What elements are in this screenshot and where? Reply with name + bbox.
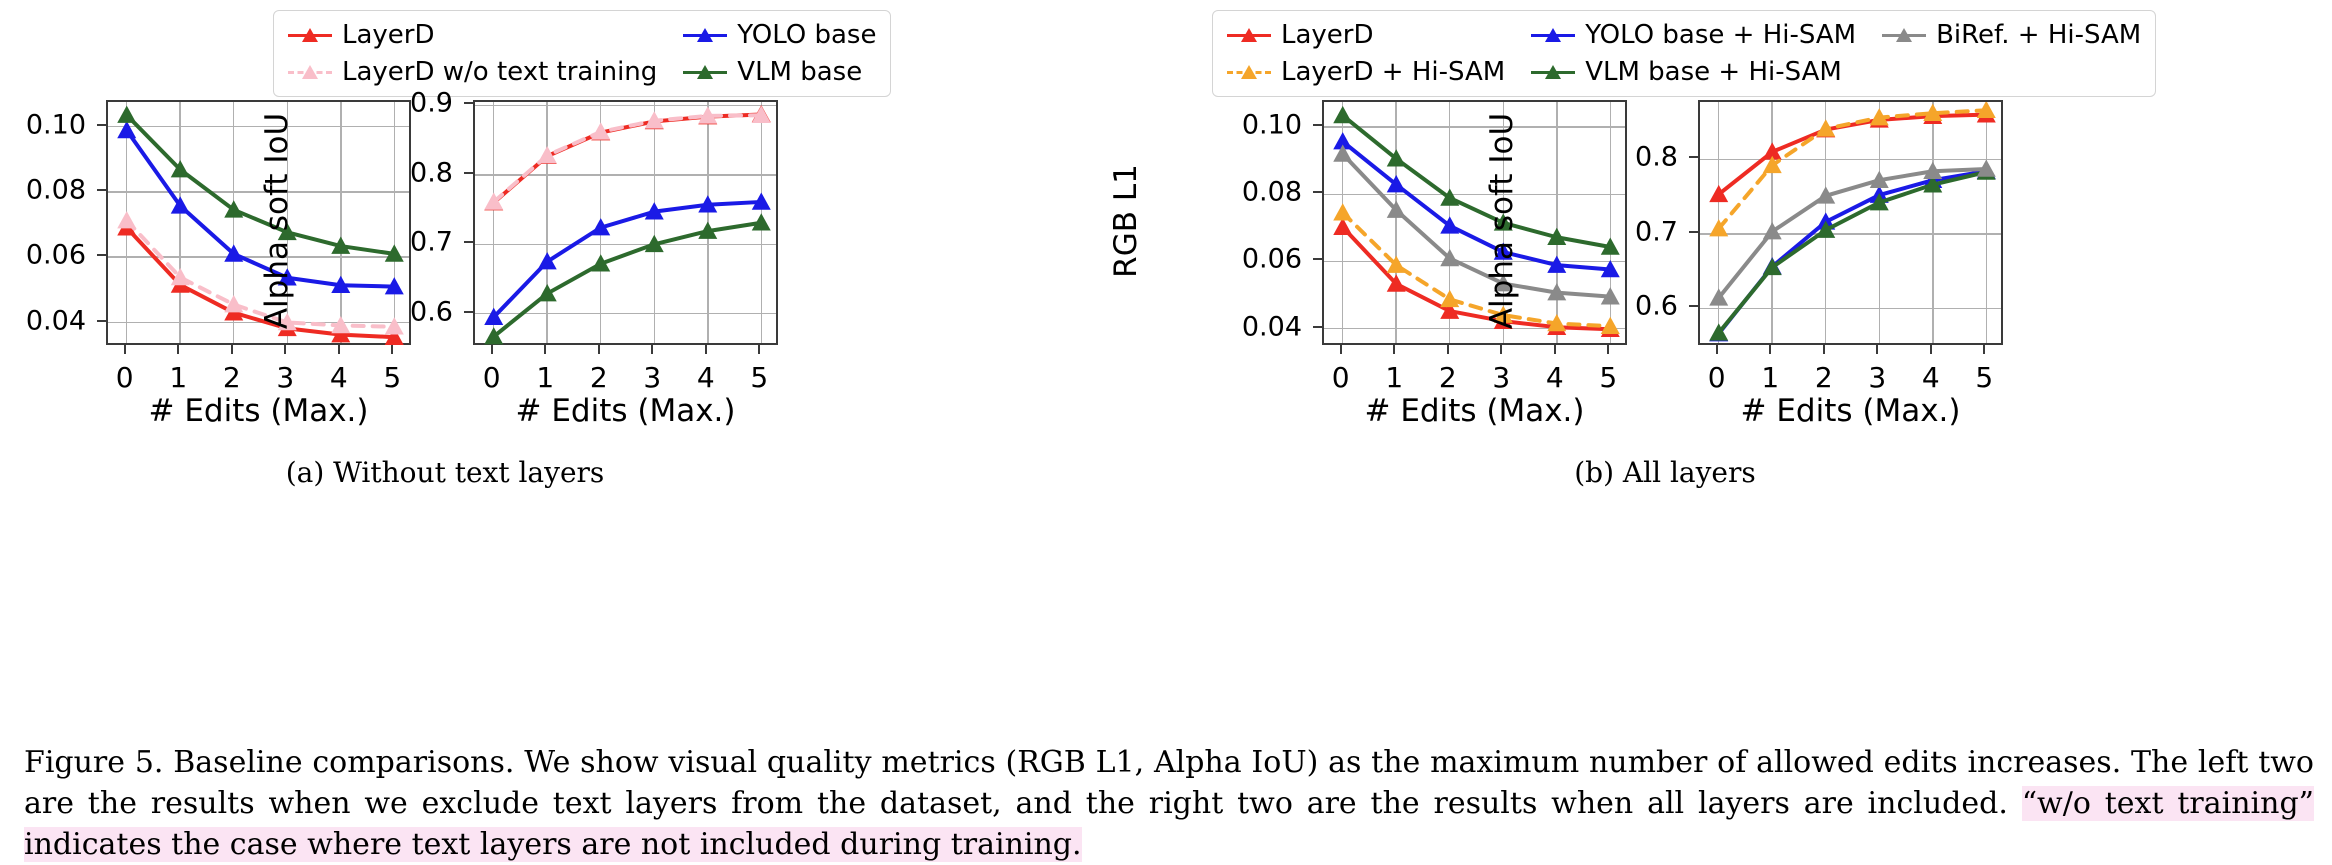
x-axis-label: # Edits (Max.): [1322, 393, 1627, 429]
x-tick-label: 2: [1815, 361, 1833, 394]
x-tick-label: 5: [1975, 361, 1993, 394]
series-line-vlm-base-hi-sam: [1719, 172, 1987, 333]
y-tick-label: 0.06: [1172, 244, 1302, 275]
plot-area-a-alpha-iou: [473, 100, 778, 345]
series-line-yolo-base-hi-sam: [1719, 171, 1987, 333]
legend-item-layerd: LayerD: [1227, 20, 1505, 50]
x-tick-mark: [1447, 345, 1449, 354]
x-tick-mark: [284, 345, 286, 354]
series-line-vlm-base: [494, 223, 762, 337]
x-tick-label: 5: [383, 361, 401, 394]
x-tick-label: 3: [276, 361, 294, 394]
series-layer: [1700, 102, 2005, 347]
legend-marker-triangle-up-icon: [1531, 61, 1575, 83]
legend-item-layerd-hi-sam: LayerD + Hi-SAM: [1227, 57, 1505, 87]
x-axis-label: # Edits (Max.): [106, 393, 411, 429]
data-point-marker-triangle-up-icon: [538, 252, 557, 269]
figure-5-container: LayerDYOLO baseLayerD w/o text trainingV…: [0, 0, 2332, 860]
legend-item-vlm-base-hi-sam: VLM base + Hi-SAM: [1531, 57, 1856, 87]
x-tick-label: 0: [1332, 361, 1350, 394]
x-tick-mark: [491, 345, 493, 354]
y-tick-mark: [97, 124, 106, 126]
y-tick-mark: [97, 189, 106, 191]
data-point-marker-triangle-up-icon: [538, 284, 557, 301]
y-tick-mark: [1313, 326, 1322, 328]
legend-item-label: LayerD: [1281, 20, 1374, 50]
x-tick-label: 2: [223, 361, 241, 394]
series-line-yolo-base: [494, 202, 762, 317]
legend-left: LayerDYOLO baseLayerD w/o text trainingV…: [273, 10, 891, 97]
x-tick-label: 3: [1492, 361, 1510, 394]
y-tick-label: 0.7: [323, 227, 453, 258]
legend-item-layerd-w-o-text-training: LayerD w/o text training: [288, 57, 657, 87]
legend-marker-triangle-up-icon: [1227, 61, 1271, 83]
x-tick-label: 4: [330, 361, 348, 394]
y-tick-label: 0.6: [1548, 291, 1678, 322]
data-point-marker-triangle-up-icon: [1333, 203, 1352, 220]
x-tick-mark: [1823, 345, 1825, 354]
data-point-marker-triangle-up-icon: [1440, 290, 1459, 307]
legend-marker-triangle-up-icon: [1227, 24, 1271, 46]
x-tick-label: 1: [1385, 361, 1403, 394]
legend-item-label: LayerD w/o text training: [342, 57, 657, 87]
legend-item-yolo-base-hi-sam: YOLO base + Hi-SAM: [1531, 20, 1856, 50]
legend-item-label: YOLO base: [737, 20, 876, 50]
y-tick-mark: [1313, 191, 1322, 193]
y-tick-mark: [1689, 156, 1698, 158]
x-tick-label: 1: [1761, 361, 1779, 394]
y-tick-mark: [97, 254, 106, 256]
series-line-layerd: [494, 114, 762, 202]
x-tick-mark: [124, 345, 126, 354]
x-tick-mark: [758, 345, 760, 354]
x-tick-label: 5: [1599, 361, 1617, 394]
data-point-marker-triangle-up-icon: [1333, 106, 1352, 123]
legend-marker-triangle-up-icon: [683, 61, 727, 83]
x-tick-label: 4: [697, 361, 715, 394]
x-tick-mark: [391, 345, 393, 354]
legend-marker-triangle-up-icon: [288, 24, 332, 46]
y-tick-mark: [1313, 124, 1322, 126]
series-layer: [475, 102, 780, 347]
x-tick-label: 1: [169, 361, 187, 394]
x-axis-label: # Edits (Max.): [1698, 393, 2003, 429]
series-line-biref-hi-sam: [1719, 169, 1987, 298]
x-tick-label: 0: [1708, 361, 1726, 394]
x-axis-label: # Edits (Max.): [473, 393, 778, 429]
y-tick-mark: [1689, 231, 1698, 233]
figure-caption-text: Figure 5. Baseline comparisons. We show …: [24, 745, 2314, 821]
data-point-marker-triangle-up-icon: [224, 295, 243, 312]
plot-area-b-alpha-iou: [1698, 100, 2003, 345]
y-tick-mark: [1689, 305, 1698, 307]
y-tick-label: 0.08: [1172, 177, 1302, 208]
x-tick-label: 0: [483, 361, 501, 394]
x-tick-mark: [651, 345, 653, 354]
x-tick-mark: [1500, 345, 1502, 354]
y-axis-label: Alpha soft IoU: [259, 53, 295, 388]
y-tick-label: 0.8: [1548, 142, 1678, 173]
x-tick-mark: [544, 345, 546, 354]
x-tick-mark: [598, 345, 600, 354]
y-tick-label: 0.10: [1172, 110, 1302, 141]
x-tick-label: 4: [1546, 361, 1564, 394]
data-point-marker-triangle-up-icon: [117, 211, 136, 228]
legend-item-biref-hi-sam: BiRef. + Hi-SAM: [1882, 20, 2141, 50]
y-tick-mark: [464, 241, 473, 243]
y-tick-label: 0.7: [1548, 216, 1678, 247]
x-tick-label: 0: [116, 361, 134, 394]
figure-caption: Figure 5. Baseline comparisons. We show …: [24, 742, 2314, 865]
x-tick-mark: [705, 345, 707, 354]
x-tick-mark: [177, 345, 179, 354]
legend-right: LayerDYOLO base + Hi-SAMBiRef. + Hi-SAML…: [1212, 10, 2156, 97]
x-tick-label: 3: [1868, 361, 1886, 394]
x-tick-mark: [1876, 345, 1878, 354]
y-tick-label: 0.06: [0, 240, 86, 271]
x-tick-label: 3: [643, 361, 661, 394]
x-tick-label: 4: [1922, 361, 1940, 394]
subcaption-a: (a) Without text layers: [180, 456, 710, 489]
y-tick-label: 0.04: [1172, 311, 1302, 342]
legend-item-label: YOLO base + Hi-SAM: [1585, 20, 1856, 50]
y-tick-mark: [464, 172, 473, 174]
x-tick-mark: [1983, 345, 1985, 354]
legend-item-vlm-base: VLM base: [683, 57, 876, 87]
data-point-marker-triangle-up-icon: [117, 106, 136, 123]
y-axis-label: Alpha soft IoU: [1484, 53, 1520, 388]
legend-item-label: LayerD: [342, 20, 435, 50]
x-tick-mark: [1340, 345, 1342, 354]
y-tick-label: 0.08: [0, 174, 86, 205]
x-tick-label: 1: [536, 361, 554, 394]
legend-item-label: VLM base + Hi-SAM: [1585, 57, 1842, 87]
subcaption-b: (b) All layers: [1400, 456, 1930, 489]
legend-item-label: BiRef. + Hi-SAM: [1936, 20, 2141, 50]
legend-marker-triangle-up-icon: [1882, 24, 1926, 46]
legend-item-label: LayerD + Hi-SAM: [1281, 57, 1505, 87]
y-tick-label: 0.04: [0, 305, 86, 336]
x-tick-mark: [1607, 345, 1609, 354]
x-tick-label: 2: [1439, 361, 1457, 394]
y-axis-label: RGB L1: [1108, 53, 1144, 388]
x-tick-mark: [1716, 345, 1718, 354]
y-tick-mark: [464, 311, 473, 313]
x-tick-mark: [1769, 345, 1771, 354]
y-tick-label: 0.8: [323, 157, 453, 188]
x-tick-mark: [1393, 345, 1395, 354]
y-tick-label: 0.10: [0, 109, 86, 140]
x-tick-mark: [1930, 345, 1932, 354]
y-tick-mark: [1313, 258, 1322, 260]
y-tick-mark: [464, 102, 473, 104]
y-tick-mark: [97, 320, 106, 322]
y-tick-label: 0.9: [323, 88, 453, 119]
legend-marker-triangle-up-icon: [1531, 24, 1575, 46]
data-point-marker-triangle-up-icon: [1763, 222, 1782, 239]
y-tick-label: 0.6: [323, 296, 453, 327]
x-tick-mark: [1554, 345, 1556, 354]
x-tick-label: 5: [750, 361, 768, 394]
x-tick-mark: [231, 345, 233, 354]
legend-item-layerd: LayerD: [288, 20, 657, 50]
legend-item-yolo-base: YOLO base: [683, 20, 876, 50]
legend-item-label: VLM base: [737, 57, 862, 87]
x-tick-mark: [338, 345, 340, 354]
x-tick-label: 2: [590, 361, 608, 394]
legend-marker-triangle-up-icon: [683, 24, 727, 46]
